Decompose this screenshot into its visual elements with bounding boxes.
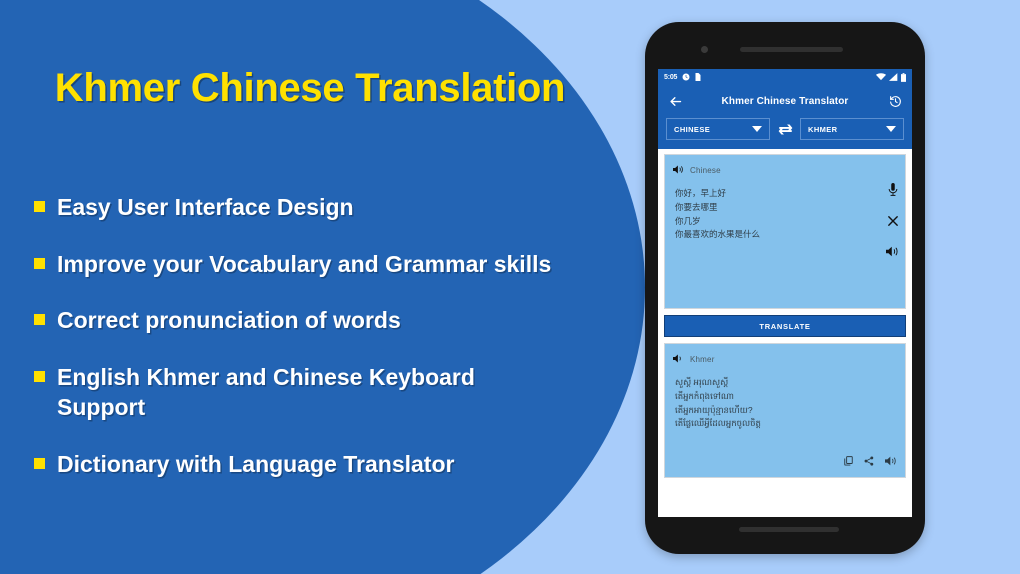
status-left-icons: [682, 73, 701, 81]
bullet-square-icon: [34, 458, 45, 469]
front-camera-icon: [701, 46, 708, 53]
target-text-panel[interactable]: Khmer សួស្តី អរុណសួស្តី តើអ្នកកំពុងទៅណា …: [664, 343, 906, 478]
feature-item-1: Easy User Interface Design: [34, 192, 624, 223]
promo-content: Khmer Chinese Translation Easy User Inte…: [0, 0, 640, 574]
target-panel-header: Khmer: [665, 344, 905, 368]
bullet-square-icon: [34, 258, 45, 269]
source-panel-actions: [886, 183, 899, 262]
app-bar: Khmer Chinese Translator: [658, 85, 912, 118]
source-panel-header: Chinese: [665, 155, 905, 179]
app-bar-title: Khmer Chinese Translator: [684, 96, 886, 107]
translate-button[interactable]: TRANSLATE: [664, 315, 906, 337]
clear-icon[interactable]: [887, 214, 899, 232]
status-bar: 5:05: [658, 69, 912, 85]
target-panel-label: Khmer: [690, 355, 715, 364]
language-selector-row: CHINESE KHMER: [658, 118, 912, 149]
back-arrow-icon[interactable]: [666, 93, 684, 111]
feature-item-3: Correct pronunciation of words: [34, 305, 624, 336]
speaker-icon[interactable]: [673, 161, 684, 179]
feature-list: Easy User Interface Design Improve your …: [34, 192, 624, 505]
target-text-line: សួស្តី អរុណសួស្តី: [675, 376, 895, 390]
source-text-line: 你好，早上好: [675, 187, 871, 201]
source-panel-label: Chinese: [690, 166, 721, 175]
chevron-down-icon: [886, 126, 896, 132]
swap-languages-icon[interactable]: [776, 120, 794, 138]
speaker-icon[interactable]: [673, 350, 684, 368]
feature-label: Easy User Interface Design: [57, 192, 354, 223]
earpiece-speaker: [740, 47, 843, 52]
translator-body: Chinese 你好，早上好 你要去哪里 你几岁 你最喜欢的水果是什么: [658, 149, 912, 478]
target-text-content: សួស្តី អរុណសួស្តី តើអ្នកកំពុងទៅណា តើអ្នក…: [665, 368, 905, 431]
source-language-dropdown[interactable]: CHINESE: [666, 118, 770, 140]
source-text-line: 你最喜欢的水果是什么: [675, 228, 871, 242]
status-time: 5:05: [664, 74, 677, 81]
feature-label: Correct pronunciation of words: [57, 305, 401, 336]
feature-item-4: English Khmer and Chinese Keyboard Suppo…: [34, 362, 624, 423]
source-text-panel[interactable]: Chinese 你好，早上好 你要去哪里 你几岁 你最喜欢的水果是什么: [664, 154, 906, 309]
feature-item-5: Dictionary with Language Translator: [34, 449, 624, 480]
copy-icon[interactable]: [844, 453, 853, 471]
history-icon[interactable]: [886, 93, 904, 111]
phone-mockup: 5:05: [645, 22, 925, 554]
signal-icon: [889, 73, 898, 81]
target-panel-actions: [844, 453, 897, 471]
source-text-content[interactable]: 你好，早上好 你要去哪里 你几岁 你最喜欢的水果是什么: [665, 179, 905, 242]
promo-banner: Khmer Chinese Translation Easy User Inte…: [0, 0, 1020, 574]
sd-card-icon: [694, 73, 701, 81]
target-text-line: តើអ្នកកំពុងទៅណា: [675, 390, 895, 404]
microphone-icon[interactable]: [888, 183, 898, 202]
status-right-icons: [876, 73, 906, 82]
speaker-icon[interactable]: [885, 453, 897, 471]
bullet-square-icon: [34, 314, 45, 325]
target-language-dropdown[interactable]: KHMER: [800, 118, 904, 140]
feature-label: Dictionary with Language Translator: [57, 449, 454, 480]
bullet-square-icon: [34, 371, 45, 382]
target-language-label: KHMER: [808, 125, 838, 134]
phone-screen: 5:05: [658, 69, 912, 517]
wifi-icon: [876, 73, 886, 81]
bottom-speaker-grille: [739, 527, 839, 532]
target-text-line: តើផ្លែឈើអ្វីដែលអ្នកចូលចិត្ត: [675, 417, 895, 431]
battery-icon: [901, 73, 906, 82]
source-text-line: 你几岁: [675, 215, 871, 229]
feature-label: Improve your Vocabulary and Grammar skil…: [57, 249, 551, 280]
source-language-label: CHINESE: [674, 125, 710, 134]
speaker-icon[interactable]: [886, 244, 899, 262]
target-text-line: តើអ្នកអាយុប៉ុន្មានហើយ?: [675, 404, 895, 418]
alarm-icon: [682, 73, 690, 81]
source-text-line: 你要去哪里: [675, 201, 871, 215]
bullet-square-icon: [34, 201, 45, 212]
feature-label: English Khmer and Chinese Keyboard Suppo…: [57, 362, 507, 423]
page-title: Khmer Chinese Translation: [0, 66, 620, 111]
share-icon[interactable]: [864, 453, 874, 471]
feature-item-2: Improve your Vocabulary and Grammar skil…: [34, 249, 624, 280]
chevron-down-icon: [752, 126, 762, 132]
